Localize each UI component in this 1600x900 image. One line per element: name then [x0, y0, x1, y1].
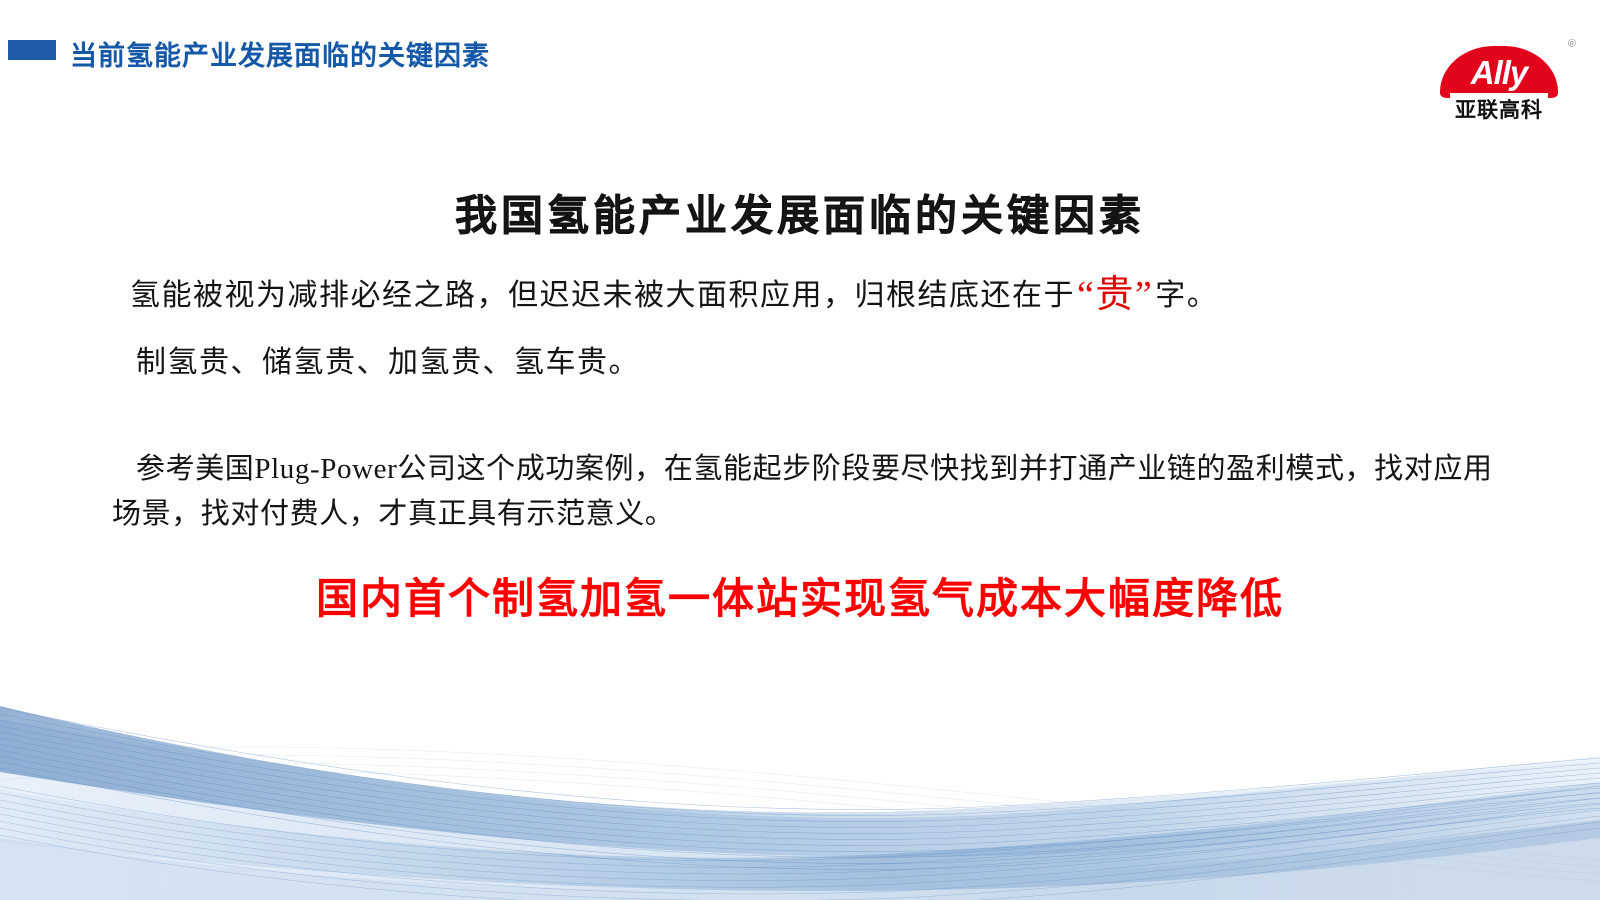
slide: 当前氢能产业发展面临的关键因素 Ally 亚联高科 ® 我国氢能产业发展面临的关…	[0, 0, 1600, 900]
body-paragraph-3: 参考美国Plug-Power公司这个成功案例，在氢能起步阶段要尽快找到并打通产业…	[112, 447, 1502, 537]
slide-content: 我国氢能产业发展面临的关键因素 氢能被视为减排必经之路，但迟迟未被大面积应用，归…	[0, 0, 1600, 900]
paragraph-1-text-before: 氢能被视为减排必经之路，但迟迟未被大面积应用，归根结底还在于	[130, 279, 1075, 312]
paragraph-1-text-after: 字。	[1155, 279, 1218, 312]
body-paragraph-2: 制氢贵、储氢贵、加氢贵、氢车贵。	[136, 340, 640, 386]
body-paragraph-1: 氢能被视为减排必经之路，但迟迟未被大面积应用，归根结底还在于“贵”字。	[130, 272, 1218, 319]
page-title: 我国氢能产业发展面临的关键因素	[0, 182, 1600, 243]
paragraph-1-emphasis-gui: “贵”	[1075, 274, 1155, 316]
red-headline: 国内首个制氢加氢一体站实现氢气成本大幅度降低	[0, 565, 1600, 626]
